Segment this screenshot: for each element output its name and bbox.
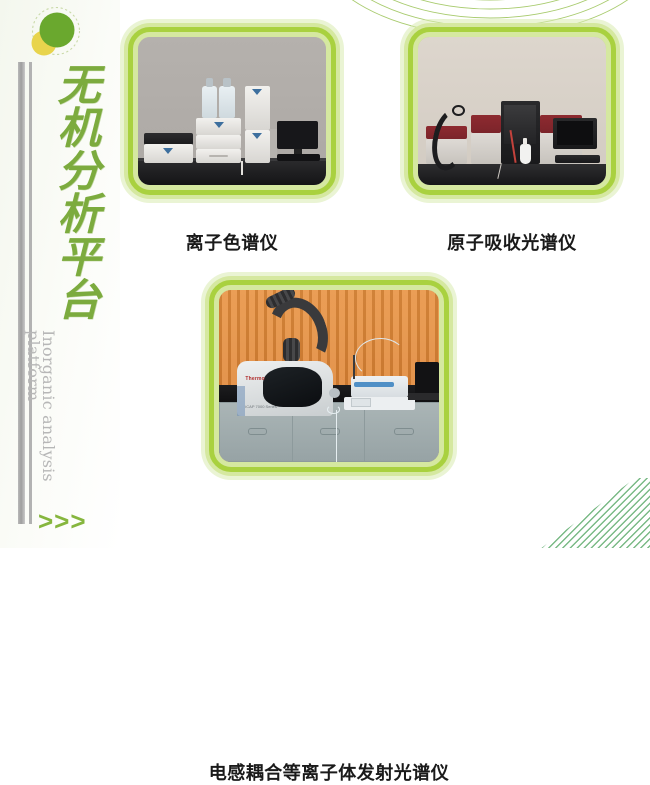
card-caption: 离子色谱仪: [124, 229, 340, 255]
thermo-brand-text: Thermo: [245, 376, 265, 382]
photo-card-icp-oes: Thermo iCAP 7000 Series 电感耦合等离子体发射光谱: [205, 276, 453, 476]
icp-model-text: iCAP 7000 Series: [245, 404, 277, 409]
photo-card-ion-chromatograph: 离子色谱仪: [124, 23, 340, 199]
photo-icp-oes: Thermo iCAP 7000 Series: [219, 290, 439, 462]
sidebar-rule-thick: [18, 62, 25, 524]
green-stripes-corner-decoration: [540, 478, 650, 548]
photo-atomic-absorption-spectrometer: [418, 37, 606, 185]
photo-card-atomic-absorption-spectrometer: 原子吸收光谱仪: [404, 23, 620, 199]
leaf-circle-logo-icon: [22, 6, 88, 68]
sidebar: 无机分析平台 Inorganic analysis platform >>>: [0, 0, 120, 548]
slide-page: 无机分析平台 Inorganic analysis platform >>>: [0, 0, 650, 548]
chevrons-icon: >>>: [38, 508, 87, 534]
card-caption: 原子吸收光谱仪: [404, 229, 620, 255]
sidebar-title-chinese: 无机分析平台: [34, 62, 96, 320]
card-caption: 电感耦合等离子体发射光谱仪: [205, 759, 453, 785]
photo-ion-chromatograph: [138, 37, 326, 185]
